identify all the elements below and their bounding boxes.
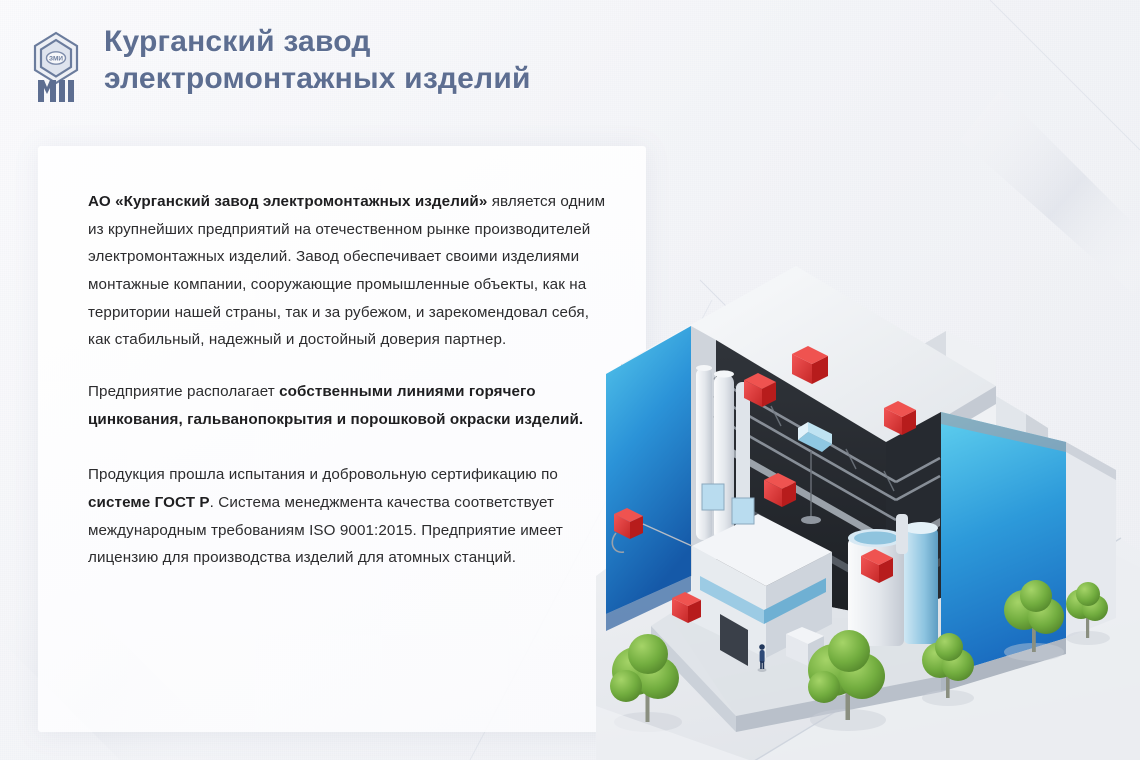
page-title-line-2: электромонтажных изделий (104, 61, 531, 98)
isometric-factory-cutaway-graphic (596, 246, 1140, 760)
slide-root: ЗМИ Курганский завод электромонтажных из… (0, 0, 1140, 760)
company-logo: ЗМИ (30, 30, 82, 104)
page-title: Курганский завод электромонтажных издели… (104, 24, 531, 97)
paragraph-production-lines: Предприятие располагает собственными лин… (88, 378, 612, 433)
slide-header: ЗМИ Курганский завод электромонтажных из… (30, 24, 531, 104)
content-card-body: АО «Курганский завод электромонтажных из… (88, 188, 612, 572)
factory-illustration (596, 246, 1140, 760)
svg-text:ЗМИ: ЗМИ (49, 56, 63, 63)
paragraph-certification: Продукция прошла испытания и добровольну… (88, 461, 612, 572)
process-tanks (848, 514, 938, 646)
paragraph-intro: АО «Курганский завод электромонтажных из… (88, 188, 612, 354)
logo-monogram-zmi (38, 80, 74, 102)
zmi-hexagon-emblem-logo-icon: ЗМИ (30, 30, 82, 104)
page-title-line-1: Курганский завод (104, 25, 371, 58)
content-card: АО «Курганский завод электромонтажных из… (38, 146, 646, 732)
